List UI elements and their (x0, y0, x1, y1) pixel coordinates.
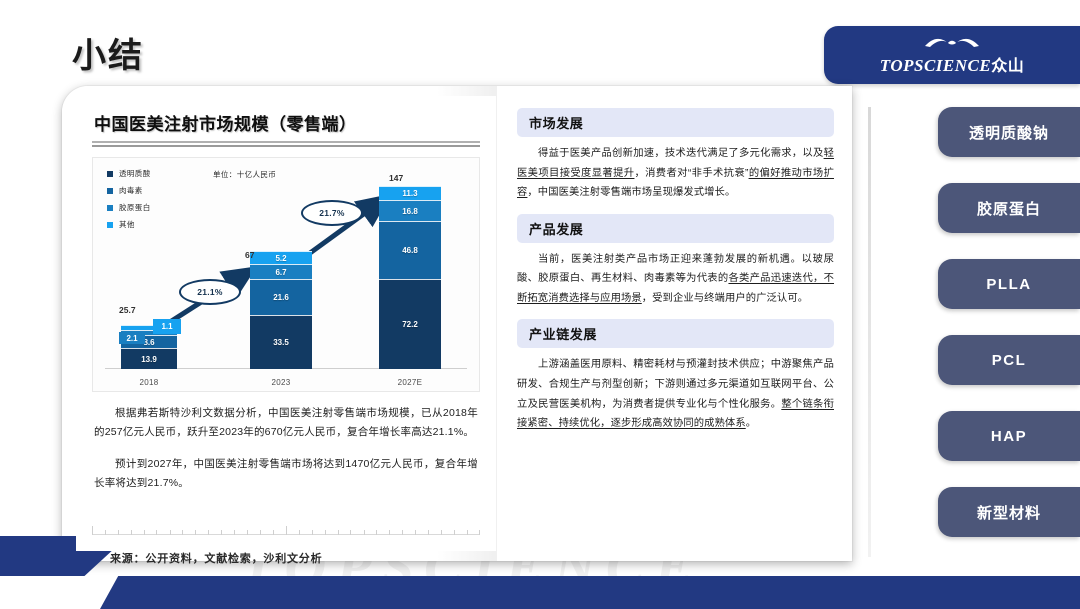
nav-item-collagen[interactable]: 胶原蛋白 (938, 183, 1080, 233)
brand-name-cn: 众山 (991, 58, 1024, 75)
brand-name: TOPSCIENCE (880, 56, 991, 75)
bar-category-label: 2023 (250, 378, 312, 387)
nav-item-hyaluronate[interactable]: 透明质酸钠 (938, 107, 1080, 157)
bar-value-chip: 1.1 (153, 319, 181, 334)
bar-category-label: 2027E (379, 378, 441, 387)
brand-logo: TOPSCIENCE众山 (824, 26, 1080, 84)
bar-segment: 11.3 (379, 186, 441, 200)
section-industry-chain-development: 产业链发展 上游涵盖医用原料、精密耗材与预灌封技术供应；中游聚焦产品研发、合规生… (517, 319, 834, 433)
section-heading: 产业链发展 (517, 319, 834, 348)
cagr-badge-1: 21.1% (179, 279, 241, 305)
bar-value: 72.2 (402, 320, 418, 329)
bar-value: 13.9 (141, 355, 157, 364)
bar-value: 2.1 (126, 334, 137, 343)
bar-value: 6.7 (275, 268, 286, 277)
summary-paragraph-2: 预计到2027年，中国医美注射零售端市场将达到1470亿元人民币，复合年增长率将… (94, 455, 478, 494)
page-title: 小结 (72, 28, 144, 77)
bar-value: 8.6 (143, 338, 154, 347)
insights-panel: 市场发展 得益于医美产品创新加速，技术迭代满足了多元化需求，以及轻医美项目接受度… (497, 86, 852, 561)
nav-rail: 透明质酸钠 胶原蛋白 PLLA PCL HAP 新型材料 (862, 107, 1080, 557)
bar-total-label: 25.7 (119, 305, 136, 315)
rail-divider (868, 107, 871, 557)
chart-title: 中国医美注射市场规模（零售端） (94, 110, 478, 135)
title-rule-divider (92, 141, 480, 147)
cagr-label: 21.7% (319, 208, 345, 218)
bar-segment: 72.2 (379, 279, 441, 369)
ruler-decoration (92, 525, 480, 535)
summary-paragraph-1: 根据弗若斯特沙利文数据分析，中国医美注射零售端市场规模，已从2018年的257亿… (94, 404, 478, 443)
bar-value: 33.5 (273, 338, 289, 347)
section-product-development: 产品发展 当前，医美注射类产品市场正迎来蓬勃发展的新机遇。以玻尿酸、胶原蛋白、再… (517, 214, 834, 309)
bar-total-label: 67 (245, 250, 254, 260)
section-heading: 产品发展 (517, 214, 834, 243)
bar-segment: 46.8 (379, 221, 441, 279)
bar-total-label: 147 (389, 173, 403, 183)
bar-value: 5.2 (275, 254, 286, 263)
nav-item-plla[interactable]: PLLA (938, 259, 1080, 309)
bar-segment: 13.9 (121, 348, 177, 369)
market-size-chart: 透明质酸 肉毒素 胶原蛋白 其他 单位：十亿人民币 (92, 157, 480, 392)
bar-value: 21.6 (273, 293, 289, 302)
section-market-development: 市场发展 得益于医美产品创新加速，技术迭代满足了多元化需求，以及轻医美项目接受度… (517, 108, 834, 203)
bar-segment: 33.5 (250, 315, 312, 369)
nav-item-hap[interactable]: HAP (938, 411, 1080, 461)
bar-segment: 5.2 (250, 251, 312, 264)
bar-value: 16.8 (402, 207, 418, 216)
footer-bar (118, 576, 1080, 609)
bar-segment: 16.8 (379, 200, 441, 221)
bar-category-label: 2018 (121, 378, 177, 387)
wave-mountain-icon (923, 35, 981, 52)
nav-item-new-materials[interactable]: 新型材料 (938, 487, 1080, 537)
cagr-label: 21.1% (197, 287, 223, 297)
bar-2023: 5.2 6.7 21.6 33.5 2023 (250, 251, 312, 369)
section-body: 得益于医美产品创新加速，技术迭代满足了多元化需求，以及轻医美项目接受度显著提升，… (517, 144, 834, 203)
bar-value: 1.1 (161, 322, 172, 331)
bar-value-chip: 2.1 (119, 332, 145, 344)
bar-2027e: 11.3 16.8 46.8 72.2 2027E (379, 186, 441, 369)
section-heading: 市场发展 (517, 108, 834, 137)
bar-segment: 21.6 (250, 279, 312, 315)
cagr-badge-2: 21.7% (301, 200, 363, 226)
footer-source: 来源：公开资料，文献检索，沙利文分析 (110, 550, 322, 566)
nav-item-pcl[interactable]: PCL (938, 335, 1080, 385)
bar-value: 11.3 (402, 189, 417, 198)
slide-canvas: TOPSCIENCE 小结 TOPSCIENCE众山 中国医美注射市场规模（零售… (0, 0, 1080, 609)
section-body: 当前，医美注射类产品市场正迎来蓬勃发展的新机遇。以玻尿酸、胶原蛋白、再生材料、肉… (517, 250, 834, 309)
brand-logo-text: TOPSCIENCE众山 (880, 52, 1024, 76)
chart-page: 中国医美注射市场规模（零售端） 透明质酸 肉毒素 胶原蛋白 (76, 96, 496, 551)
section-body: 上游涵盖医用原料、精密耗材与预灌封技术供应；中游聚焦产品研发、合规生产与剂型创新… (517, 355, 834, 433)
bar-segment: 6.7 (250, 264, 312, 279)
bar-value: 46.8 (402, 246, 418, 255)
